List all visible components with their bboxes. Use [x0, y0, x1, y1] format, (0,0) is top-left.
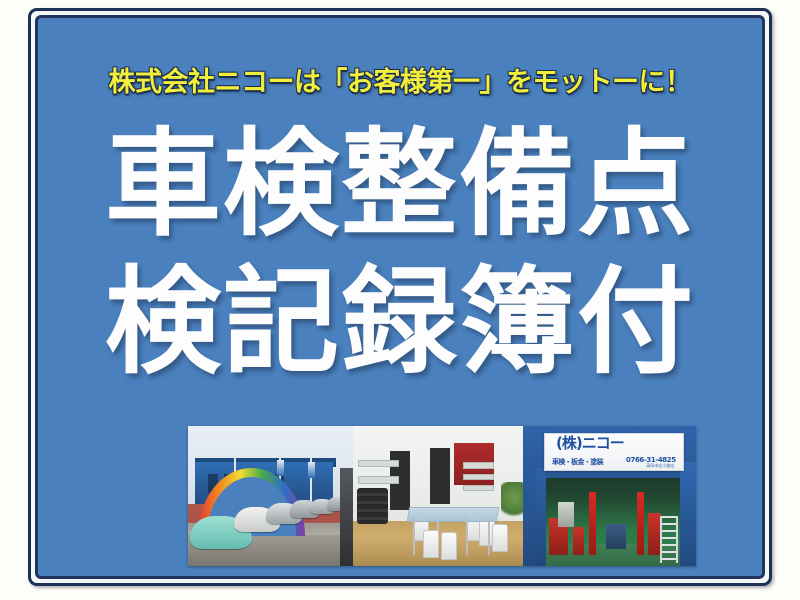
company-sign: (株)ニコー 車検・板金・塗装 0766-31-4825 高岡市広小路店 — [544, 433, 684, 471]
decorative-inner-frame: 株式会社ニコーは「お客様第一」をモットーに！ 車検整備点 検記録簿付 — [35, 15, 765, 579]
photo-dealership-lot — [188, 426, 353, 566]
company-sign-note: 高岡市広小路店 — [646, 463, 674, 469]
banner-root: 株式会社ニコーは「お客様第一」をモットーに！ 車検整備点 検記録簿付 — [0, 0, 800, 600]
headline-line-2: 検記録簿付 — [38, 254, 762, 392]
photo-strip: (株)ニコー 車検・板金・塗装 0766-31-4825 高岡市広小路店 — [188, 426, 696, 566]
headline-block: 車検整備点 検記録簿付 — [38, 116, 762, 392]
company-sign-name: (株)ニコー — [556, 435, 677, 451]
tagline-text: 株式会社ニコーは「お客様第一」をモットーに！ — [38, 60, 762, 99]
decorative-outer-frame: 株式会社ニコーは「お客様第一」をモットーに！ 車検整備点 検記録簿付 — [28, 8, 772, 586]
company-sign-services: 車検・板金・塗装 — [552, 457, 603, 467]
headline-line-1: 車検整備点 — [38, 116, 762, 254]
photo-showroom-interior — [353, 426, 536, 566]
photo-garage-bay: (株)ニコー 車検・板金・塗装 0766-31-4825 高岡市広小路店 — [536, 426, 696, 566]
